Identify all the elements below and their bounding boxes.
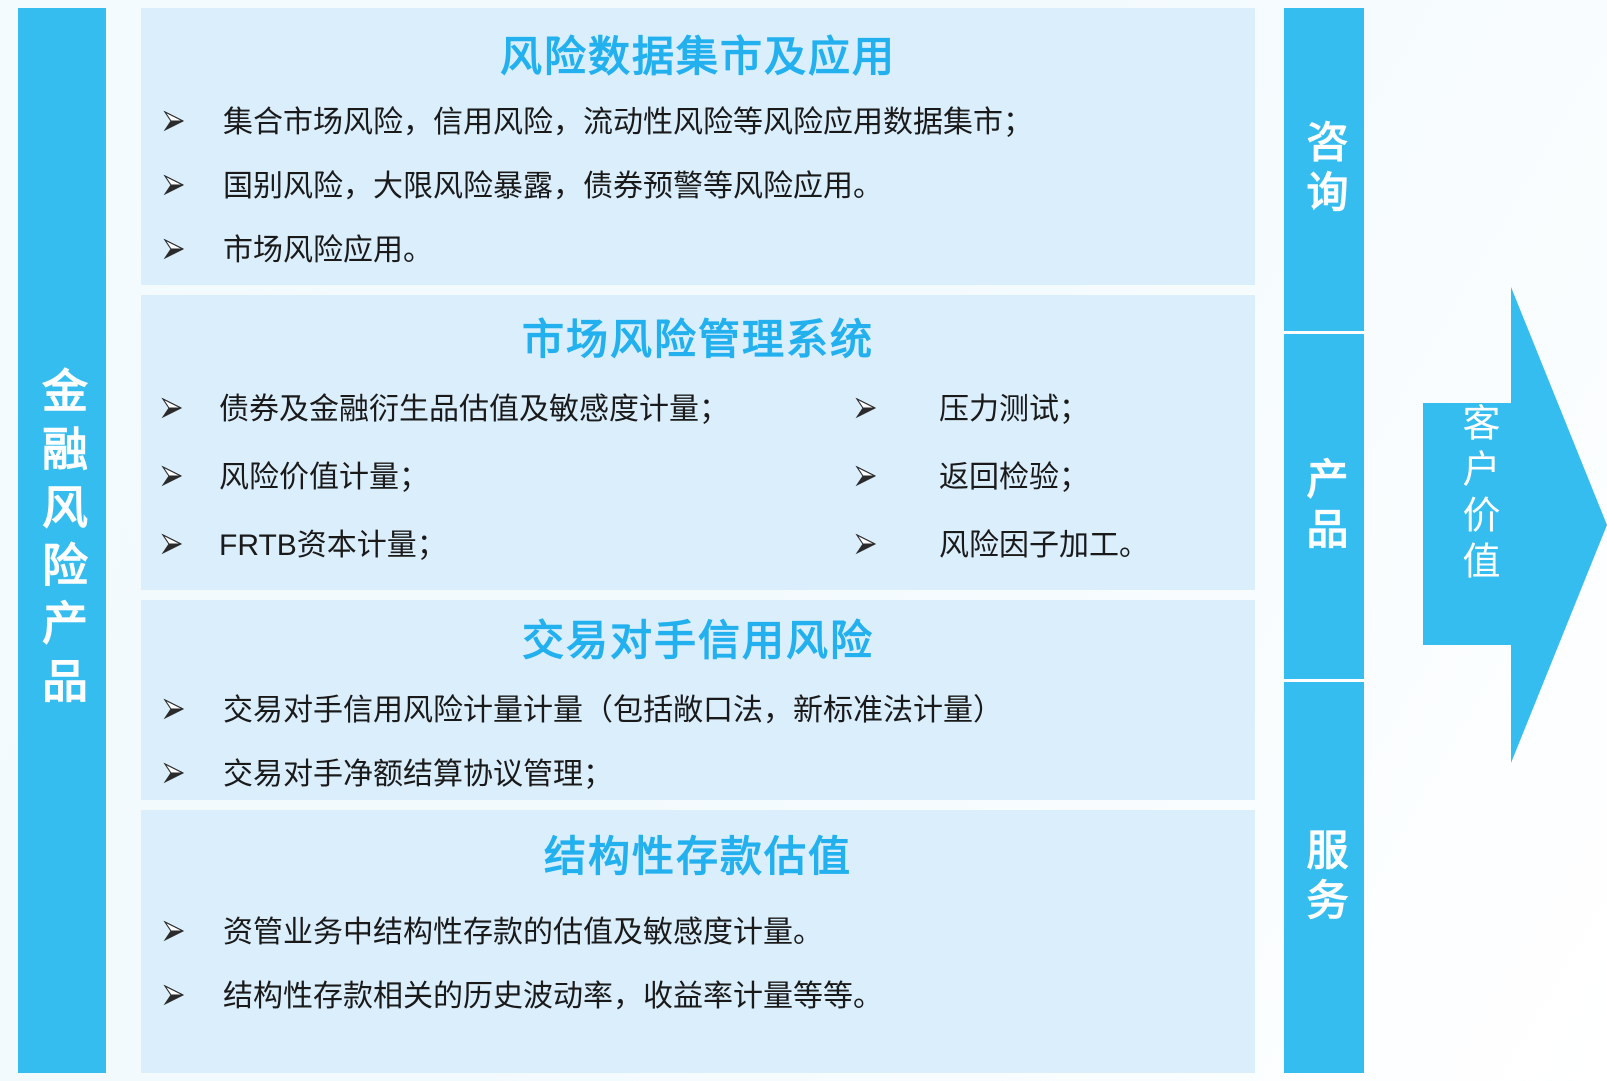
list-item-text: 风险因子加工。 (939, 531, 1255, 561)
section-title: 交易对手信用风险 (141, 600, 1255, 662)
list-item-text: 风险价值计量； (219, 463, 841, 493)
arrow-bullet-icon (141, 108, 223, 134)
section-counterparty-credit-risk: 交易对手信用风险 交易对手信用风险计量计量（包括敞口法，新标准法计量） 交易对手… (141, 600, 1255, 800)
stage-item-service[interactable]: 服务 (1284, 682, 1364, 1073)
list-item-text: 压力测试； (939, 395, 1255, 425)
list-item-text: 返回检验； (939, 463, 1255, 493)
arrow-bullet-icon (141, 760, 223, 786)
arrow-bullet-icon (141, 395, 219, 421)
list-item: 资管业务中结构性存款的估值及敏感度计量。 (141, 918, 1255, 948)
section-structured-deposit-valuation: 结构性存款估值 资管业务中结构性存款的估值及敏感度计量。 结构性存款相关的历史波… (141, 810, 1255, 1073)
list-item: FRTB资本计量； (141, 531, 841, 561)
list-item-text: FRTB资本计量； (219, 531, 841, 561)
list-item-text: 交易对手净额结算协议管理； (223, 760, 1255, 790)
arrow-bullet-icon (141, 236, 223, 262)
list-item: 国别风险，大限风险暴露，债券预警等风险应用。 (141, 172, 1255, 202)
bullet-list: 集合市场风险，信用风险，流动性风险等风险应用数据集市； 国别风险，大限风险暴露，… (141, 108, 1255, 266)
section-risk-data-mart: 风险数据集市及应用 集合市场风险，信用风险，流动性风险等风险应用数据集市； 国别… (141, 8, 1255, 285)
list-item: 市场风险应用。 (141, 236, 1255, 266)
bullet-list-right: 压力测试； 返回检验； 风险因子加工。 (841, 395, 1255, 599)
list-item: 压力测试； (841, 395, 1255, 425)
section-title: 结构性存款估值 (141, 810, 1255, 878)
list-item-text: 资管业务中结构性存款的估值及敏感度计量。 (223, 918, 1255, 948)
stage-item-label: 咨询 (1303, 120, 1345, 220)
list-item: 交易对手净额结算协议管理； (141, 760, 1255, 790)
arrow-bullet-icon (841, 463, 939, 489)
bullet-list: 交易对手信用风险计量计量（包括敞口法，新标准法计量） 交易对手净额结算协议管理； (141, 696, 1255, 790)
left-category-label: 金融风险产品 (39, 367, 85, 715)
arrow-bullet-icon (841, 531, 939, 557)
list-item-text: 集合市场风险，信用风险，流动性风险等风险应用数据集市； (223, 108, 1255, 138)
arrow-bullet-icon (141, 463, 219, 489)
list-item: 债券及金融衍生品估值及敏感度计量； (141, 395, 841, 425)
list-item-text: 债券及金融衍生品估值及敏感度计量； (219, 395, 841, 425)
stage-item-product[interactable]: 产品 (1284, 334, 1364, 679)
arrow-bullet-icon (841, 395, 939, 421)
slide-canvas: 金融风险产品 风险数据集市及应用 集合市场风险，信用风险，流动性风险等风险应用数… (0, 0, 1607, 1081)
stage-item-label: 产品 (1303, 457, 1345, 557)
bullet-list: 资管业务中结构性存款的估值及敏感度计量。 结构性存款相关的历史波动率，收益率计量… (141, 918, 1255, 1012)
list-item: 风险价值计量； (141, 463, 841, 493)
stage-item-consulting[interactable]: 咨询 (1284, 8, 1364, 331)
left-category-bar: 金融风险产品 (18, 8, 106, 1073)
customer-value-label: 客户价值 (1426, 403, 1496, 587)
list-item: 返回检验； (841, 463, 1255, 493)
list-item: 结构性存款相关的历史波动率，收益率计量等等。 (141, 982, 1255, 1012)
arrow-bullet-icon (141, 982, 223, 1008)
section-title: 市场风险管理系统 (141, 295, 1255, 361)
list-item: 风险因子加工。 (841, 531, 1255, 561)
list-item: 交易对手信用风险计量计量（包括敞口法，新标准法计量） (141, 696, 1255, 726)
arrow-bullet-icon (141, 696, 223, 722)
list-item-text: 市场风险应用。 (223, 236, 1255, 266)
arrow-bullet-icon (141, 918, 223, 944)
stage-column: 咨询 产品 服务 (1284, 8, 1364, 1073)
list-item: 集合市场风险，信用风险，流动性风险等风险应用数据集市； (141, 108, 1255, 138)
section-title: 风险数据集市及应用 (141, 8, 1255, 78)
list-item-text: 交易对手信用风险计量计量（包括敞口法，新标准法计量） (223, 696, 1255, 726)
content-panel: 风险数据集市及应用 集合市场风险，信用风险，流动性风险等风险应用数据集市； 国别… (141, 8, 1255, 1073)
arrow-bullet-icon (141, 531, 219, 557)
list-item-text: 结构性存款相关的历史波动率，收益率计量等等。 (223, 982, 1255, 1012)
stage-item-label: 服务 (1303, 828, 1345, 928)
arrow-bullet-icon (141, 172, 223, 198)
bullet-list-left: 债券及金融衍生品估值及敏感度计量； 风险价值计量； FRTB资本计量； (141, 395, 841, 599)
customer-value-arrow: 客户价值 (1406, 275, 1607, 775)
bullet-two-column-group: 债券及金融衍生品估值及敏感度计量； 风险价值计量； FRTB资本计量； (141, 395, 1255, 599)
list-item-text: 国别风险，大限风险暴露，债券预警等风险应用。 (223, 172, 1255, 202)
section-market-risk-system: 市场风险管理系统 债券及金融衍生品估值及敏感度计量； 风险价值计量； (141, 295, 1255, 590)
